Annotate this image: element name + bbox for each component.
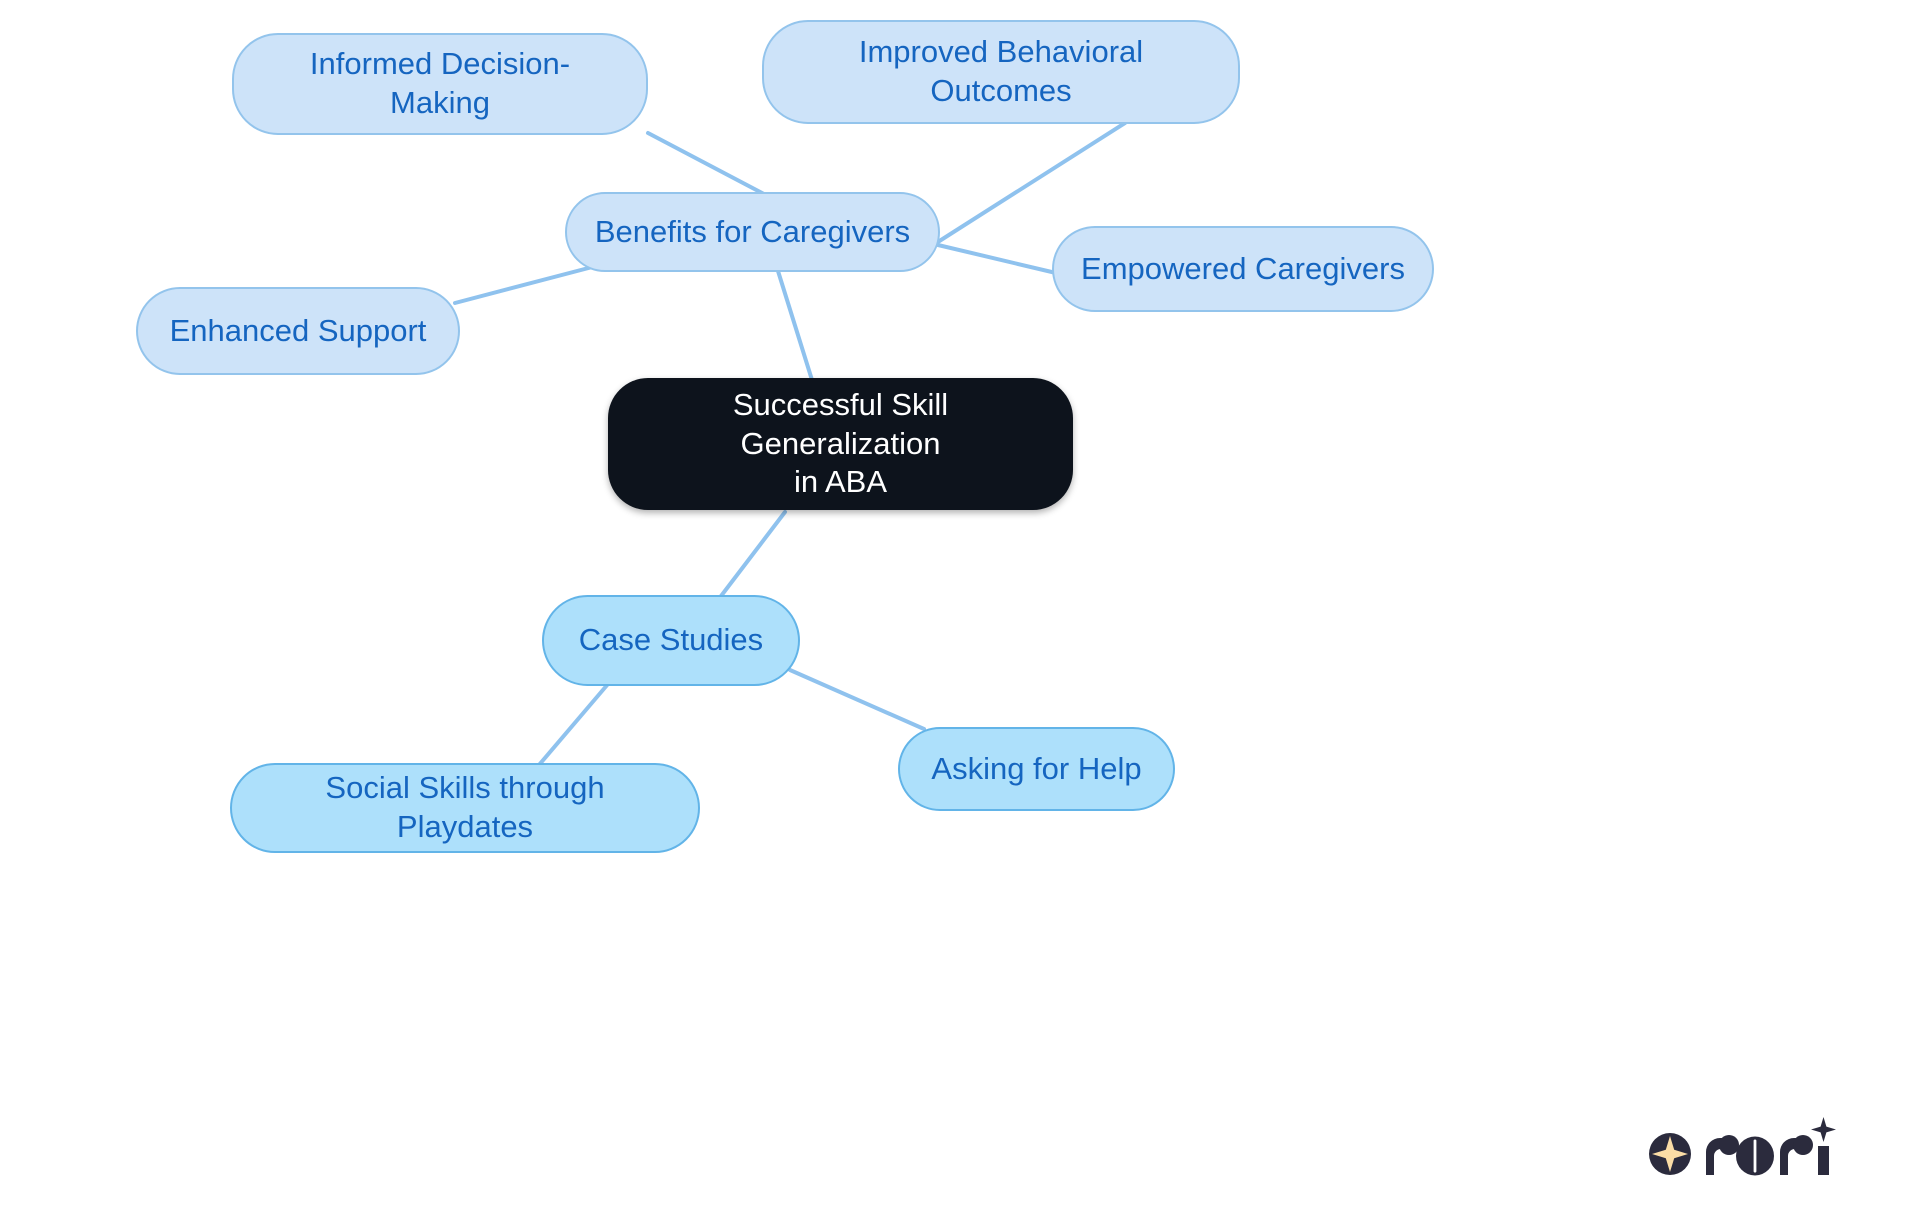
node-label: Enhanced Support bbox=[170, 312, 427, 351]
node-label: Benefits for Caregivers bbox=[595, 213, 910, 252]
node-improved-behavioral-outcomes[interactable]: Improved Behavioral Outcomes bbox=[762, 20, 1240, 124]
edge-cases-social bbox=[533, 684, 608, 772]
node-label: Case Studies bbox=[579, 621, 763, 660]
node-asking-for-help[interactable]: Asking for Help bbox=[898, 727, 1175, 811]
edge-cases-asking bbox=[790, 670, 924, 729]
logo-wordmark bbox=[1706, 1117, 1836, 1176]
node-label: Improved Behavioral Outcomes bbox=[790, 33, 1212, 111]
node-case-studies[interactable]: Case Studies bbox=[542, 595, 800, 686]
node-informed-decision-making[interactable]: Informed Decision-Making bbox=[232, 33, 648, 135]
edge-benefits-root bbox=[778, 271, 812, 380]
node-root-successful-skill-generalization[interactable]: Successful Skill Generalization in ABA bbox=[608, 378, 1073, 510]
node-label: Informed Decision-Making bbox=[260, 45, 620, 123]
edge-layer bbox=[0, 0, 1920, 1215]
edge-enhanced-benefits bbox=[455, 265, 600, 303]
node-benefits-for-caregivers[interactable]: Benefits for Caregivers bbox=[565, 192, 940, 272]
node-label: Social Skills through Playdates bbox=[258, 769, 672, 847]
edge-root-cases bbox=[718, 512, 785, 600]
rori-logo bbox=[1648, 1112, 1848, 1192]
node-empowered-caregivers[interactable]: Empowered Caregivers bbox=[1052, 226, 1434, 312]
node-social-skills-through-playdates[interactable]: Social Skills through Playdates bbox=[230, 763, 700, 853]
node-enhanced-support[interactable]: Enhanced Support bbox=[136, 287, 460, 375]
node-label: Empowered Caregivers bbox=[1081, 250, 1405, 289]
node-label: Successful Skill Generalization in ABA bbox=[638, 386, 1043, 502]
mindmap-canvas: Informed Decision-Making Improved Behavi… bbox=[0, 0, 1920, 1215]
logo-mark-icon bbox=[1649, 1133, 1691, 1175]
node-label: Asking for Help bbox=[931, 750, 1141, 789]
edge-benefits-empowered bbox=[938, 245, 1056, 273]
